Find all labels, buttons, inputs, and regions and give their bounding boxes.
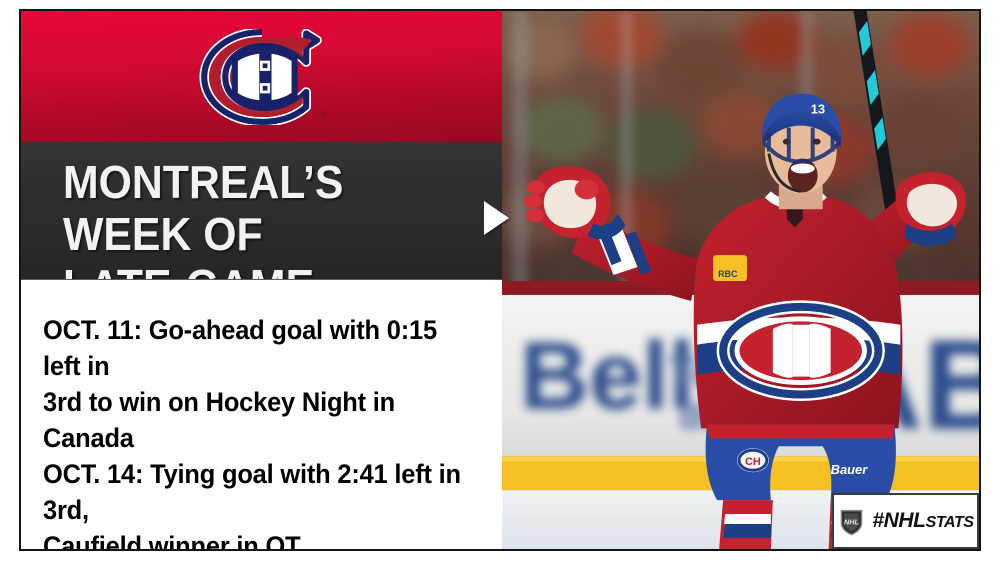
canadiens-logo: ® xyxy=(194,29,330,125)
page-title: MONTREAL’S WEEK OF LATE-GAME HEROICS xyxy=(63,156,458,280)
photo-illustration: Bell Tou. du ABS xyxy=(502,11,979,549)
registered-trademark-mark: ® xyxy=(320,109,326,118)
nhl-shield-icon: NHL xyxy=(837,507,866,536)
left-content-column: ® MONTREAL’S WEEK OF LATE-GAME HEROICS O… xyxy=(21,11,502,549)
pants-brand: Bauer xyxy=(831,462,869,477)
headline-panel: MONTREAL’S WEEK OF LATE-GAME HEROICS xyxy=(21,142,502,280)
jersey-crest xyxy=(723,307,878,395)
play-arrow-icon[interactable] xyxy=(484,201,509,235)
hashtag-nhl: #NHL xyxy=(872,509,925,532)
svg-text:RBC: RBC xyxy=(718,269,738,279)
pants-crest: CH xyxy=(745,456,761,468)
player-number: 13 xyxy=(811,102,825,117)
nhl-stats-badge: NHL #NHLSTATS xyxy=(832,493,979,549)
team-logo-banner: ® xyxy=(21,11,502,142)
stats-word: STATS xyxy=(926,514,974,531)
celebration-photo: Bell Tou. du ABS xyxy=(502,11,979,549)
nhl-stats-label: #NHLSTATS xyxy=(872,509,973,533)
list-item: OCT. 14: Tying goal with 2:41 left in 3r… xyxy=(43,456,466,551)
list-item: OCT. 11: Go-ahead goal with 0:15 left in… xyxy=(43,312,466,456)
infographic-card: ® MONTREAL’S WEEK OF LATE-GAME HEROICS O… xyxy=(19,9,981,551)
player-jersey: RBC xyxy=(694,191,903,428)
nhl-shield-label: NHL xyxy=(844,517,859,526)
bullet-list: OCT. 11: Go-ahead goal with 0:15 left in… xyxy=(21,280,502,549)
